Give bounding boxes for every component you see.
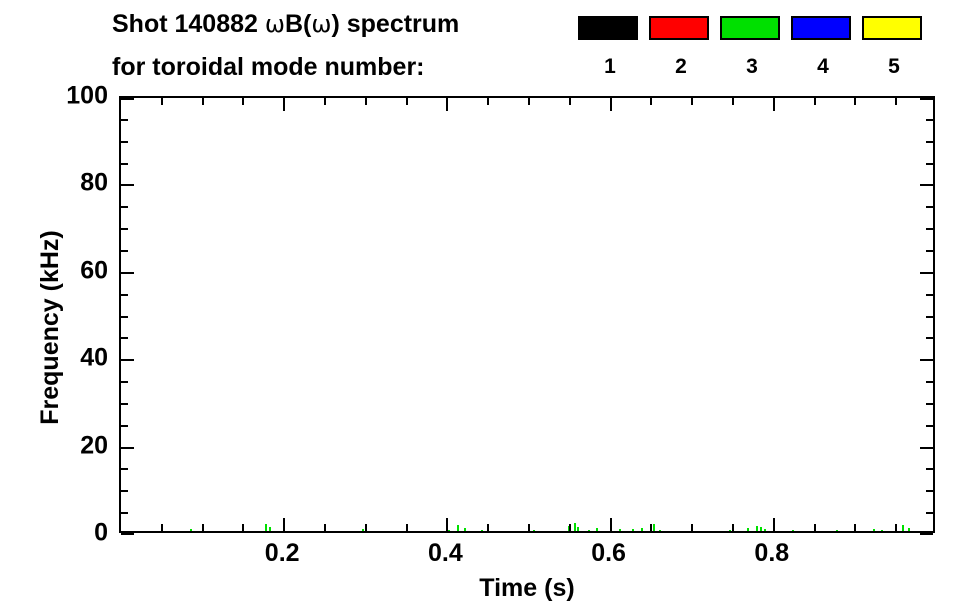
x-tick-minor bbox=[895, 524, 897, 531]
x-tick-minor bbox=[569, 524, 571, 531]
spectrum-mark-n3 bbox=[881, 530, 883, 531]
spectrum-mark-n3 bbox=[659, 530, 661, 531]
x-tick-top-minor bbox=[161, 98, 163, 105]
y-tick-label: 60 bbox=[80, 258, 108, 283]
x-tick-major bbox=[446, 518, 448, 531]
y-tick-minor bbox=[121, 141, 128, 143]
title-spectrum-text: ) spectrum bbox=[331, 10, 459, 38]
y-tick-minor bbox=[121, 294, 128, 296]
x-tick-label: 0.8 bbox=[754, 541, 789, 566]
y-tick-right-major bbox=[920, 447, 933, 449]
y-tick-label: 100 bbox=[66, 84, 108, 109]
legend-item-2[interactable]: 2 bbox=[649, 14, 713, 86]
y-tick-label: 20 bbox=[80, 433, 108, 458]
legend-swatch-5 bbox=[862, 16, 922, 40]
figure-title-line-2: for toroidal mode number: bbox=[112, 55, 425, 80]
spectrum-mark-n3 bbox=[908, 528, 910, 531]
x-tick-minor bbox=[691, 524, 693, 531]
x-tick-top-minor bbox=[854, 98, 856, 105]
y-tick-major bbox=[121, 272, 134, 274]
spectrum-mark-n3 bbox=[619, 529, 621, 531]
spectrum-mark-n3 bbox=[836, 530, 838, 531]
legend-label-4: 4 bbox=[791, 56, 855, 77]
y-tick-right-minor bbox=[926, 228, 933, 230]
spectrum-mark-n3 bbox=[481, 530, 483, 531]
spectrum-mark-n3 bbox=[760, 527, 762, 531]
y-tick-right-major bbox=[920, 184, 933, 186]
x-tick-major bbox=[773, 518, 775, 531]
y-tick-right-minor bbox=[926, 403, 933, 405]
y-tick-right-major bbox=[920, 272, 933, 274]
legend-swatch-1 bbox=[578, 16, 638, 40]
x-tick-minor bbox=[487, 524, 489, 531]
x-tick-top-minor bbox=[406, 98, 408, 105]
x-tick-top-major bbox=[773, 98, 775, 111]
x-tick-minor bbox=[242, 524, 244, 531]
y-tick-minor bbox=[121, 250, 128, 252]
y-tick-right-major bbox=[920, 359, 933, 361]
x-tick-minor bbox=[324, 524, 326, 531]
spectrum-mark-n3 bbox=[756, 526, 758, 531]
legend-swatch-3 bbox=[720, 16, 780, 40]
x-tick-label: 0.2 bbox=[265, 541, 300, 566]
x-tick-top-minor bbox=[569, 98, 571, 105]
spectrum-mark-n3 bbox=[588, 530, 590, 531]
x-tick-top-minor bbox=[895, 98, 897, 105]
x-tick-top-minor bbox=[202, 98, 204, 105]
y-tick-major bbox=[121, 447, 134, 449]
x-tick-minor bbox=[528, 524, 530, 531]
spectrum-mark-n3 bbox=[729, 530, 731, 531]
x-tick-minor bbox=[406, 524, 408, 531]
y-tick-right-minor bbox=[926, 468, 933, 470]
omega-symbol-1: ω bbox=[265, 10, 285, 38]
x-tick-label: 0.4 bbox=[428, 541, 463, 566]
x-tick-top-minor bbox=[528, 98, 530, 105]
y-tick-right-minor bbox=[926, 206, 933, 208]
x-tick-top-minor bbox=[650, 98, 652, 105]
spectrum-mark-n3 bbox=[596, 528, 598, 531]
y-tick-right-minor bbox=[926, 294, 933, 296]
spectrum-mark-n3 bbox=[265, 524, 267, 531]
x-axis-tick-labels: 0.20.40.60.8 bbox=[119, 541, 935, 573]
spectrum-mark-n3 bbox=[464, 528, 466, 531]
spectrum-mark-n3 bbox=[792, 530, 794, 531]
y-tick-minor bbox=[121, 206, 128, 208]
x-tick-minor bbox=[650, 524, 652, 531]
y-tick-right-minor bbox=[926, 119, 933, 121]
y-tick-major bbox=[121, 359, 134, 361]
plot-data-area bbox=[121, 98, 933, 531]
spectrum-mark-n3 bbox=[574, 523, 576, 531]
spectrum-mark-n3 bbox=[577, 527, 579, 531]
y-tick-right-minor bbox=[926, 141, 933, 143]
x-tick-minor bbox=[202, 524, 204, 531]
x-tick-minor bbox=[854, 524, 856, 531]
x-tick-top-minor bbox=[324, 98, 326, 105]
y-tick-label: 40 bbox=[80, 346, 108, 371]
spectrum-mark-n3 bbox=[457, 525, 459, 532]
y-tick-minor bbox=[121, 337, 128, 339]
x-tick-minor bbox=[732, 524, 734, 531]
legend-item-5[interactable]: 5 bbox=[862, 14, 926, 86]
title-b-text: B( bbox=[285, 10, 311, 38]
y-tick-minor bbox=[121, 228, 128, 230]
x-tick-top-minor bbox=[732, 98, 734, 105]
y-tick-major bbox=[121, 98, 134, 100]
legend-label-3: 3 bbox=[720, 56, 784, 77]
spectrum-mark-n3 bbox=[269, 527, 271, 531]
y-tick-label: 0 bbox=[94, 521, 108, 546]
y-tick-right-major bbox=[920, 98, 933, 100]
x-tick-major bbox=[610, 518, 612, 531]
x-axis-title: Time (s) bbox=[119, 576, 935, 601]
spectrum-mark-n3 bbox=[632, 529, 634, 531]
x-tick-top-minor bbox=[487, 98, 489, 105]
x-tick-minor bbox=[161, 524, 163, 531]
spectrum-mark-n3 bbox=[362, 529, 364, 531]
x-tick-top-minor bbox=[814, 98, 816, 105]
y-tick-minor bbox=[121, 119, 128, 121]
x-tick-top-minor bbox=[365, 98, 367, 105]
legend-swatch-4 bbox=[791, 16, 851, 40]
legend: 12345 bbox=[578, 14, 934, 86]
y-tick-right-minor bbox=[926, 425, 933, 427]
y-tick-right-major bbox=[920, 533, 933, 535]
spectrum-mark-n3 bbox=[873, 529, 875, 531]
x-tick-label: 0.6 bbox=[591, 541, 626, 566]
y-tick-right-minor bbox=[926, 381, 933, 383]
y-tick-right-minor bbox=[926, 337, 933, 339]
spectrum-mark-n3 bbox=[190, 529, 192, 531]
x-tick-top-major bbox=[610, 98, 612, 111]
y-tick-right-minor bbox=[926, 490, 933, 492]
legend-item-4[interactable]: 4 bbox=[791, 14, 855, 86]
y-tick-minor bbox=[121, 490, 128, 492]
x-tick-minor bbox=[814, 524, 816, 531]
x-tick-minor bbox=[365, 524, 367, 531]
y-tick-right-minor bbox=[926, 250, 933, 252]
y-tick-minor bbox=[121, 403, 128, 405]
spectrum-mark-n3 bbox=[747, 528, 749, 531]
legend-label-1: 1 bbox=[578, 56, 642, 77]
y-tick-minor bbox=[121, 316, 128, 318]
legend-label-2: 2 bbox=[649, 56, 713, 77]
title-shot-text: Shot 140882 bbox=[112, 10, 265, 38]
legend-item-1[interactable]: 1 bbox=[578, 14, 642, 86]
y-tick-label: 80 bbox=[80, 171, 108, 196]
y-tick-minor bbox=[121, 163, 128, 165]
spectrum-mark-n3 bbox=[641, 528, 643, 531]
y-tick-right-minor bbox=[926, 512, 933, 514]
x-tick-top-minor bbox=[242, 98, 244, 105]
y-tick-right-minor bbox=[926, 163, 933, 165]
spectrum-mark-n3 bbox=[902, 525, 904, 531]
spectrum-mark-n3 bbox=[764, 529, 766, 531]
y-axis-title: Frequency (kHz) bbox=[38, 109, 63, 546]
x-tick-top-minor bbox=[691, 98, 693, 105]
y-tick-minor bbox=[121, 381, 128, 383]
y-tick-minor bbox=[121, 468, 128, 470]
legend-label-5: 5 bbox=[862, 56, 926, 77]
y-tick-right-minor bbox=[926, 316, 933, 318]
spectrum-mark-n3 bbox=[533, 530, 535, 531]
spectrum-figure: Shot 140882 ωB(ω) spectrum for toroidal … bbox=[0, 0, 963, 615]
y-tick-major bbox=[121, 184, 134, 186]
legend-item-3[interactable]: 3 bbox=[720, 14, 784, 86]
x-tick-top-major bbox=[283, 98, 285, 111]
x-tick-major bbox=[283, 518, 285, 531]
plot-frame bbox=[119, 96, 935, 533]
legend-swatch-2 bbox=[649, 16, 709, 40]
y-tick-major bbox=[121, 533, 134, 535]
x-tick-top-major bbox=[446, 98, 448, 111]
figure-title-line-1: Shot 140882 ωB(ω) spectrum bbox=[112, 12, 459, 37]
y-tick-minor bbox=[121, 425, 128, 427]
spectrum-mark-n3 bbox=[653, 524, 655, 531]
omega-symbol-2: ω bbox=[311, 10, 331, 38]
y-tick-minor bbox=[121, 512, 128, 514]
